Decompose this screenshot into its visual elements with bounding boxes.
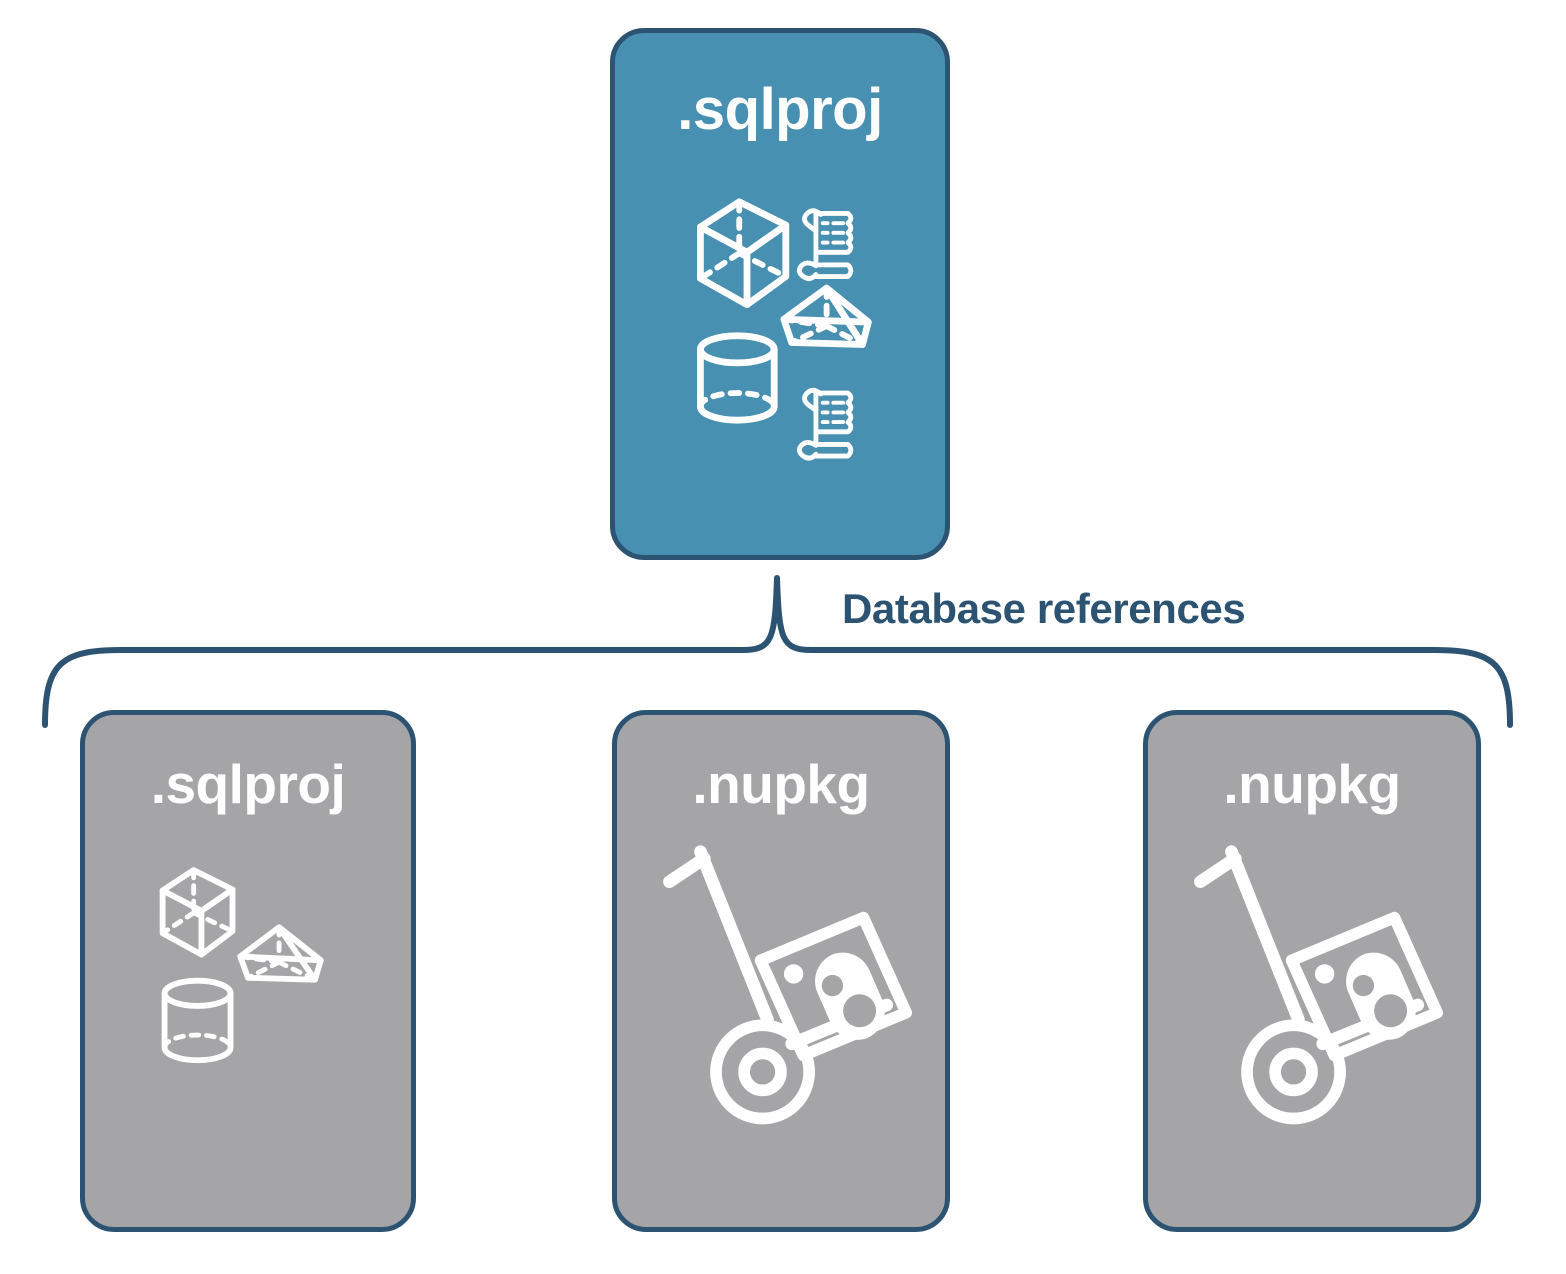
nuget-glyph-icon bbox=[1346, 953, 1416, 1040]
connector-label: Database references bbox=[842, 588, 1245, 630]
cylinder-icon bbox=[165, 981, 231, 1061]
hand-truck-package-icon bbox=[1200, 852, 1437, 1119]
card-title: .nupkg bbox=[1148, 757, 1476, 812]
pyramid-icon bbox=[240, 927, 321, 979]
cube-icon bbox=[163, 870, 233, 954]
wheel-icon bbox=[716, 1025, 809, 1118]
card-nupkg-reference-1[interactable]: .nupkg bbox=[612, 710, 950, 1232]
card-title: .nupkg bbox=[617, 757, 945, 812]
wheel-icon bbox=[1247, 1025, 1340, 1118]
card-title: .sqlproj bbox=[85, 757, 411, 812]
hand-truck-package-icon bbox=[669, 852, 906, 1119]
card-sqlproj-reference[interactable]: .sqlproj bbox=[80, 710, 416, 1232]
database-references-diagram: .sqlproj bbox=[0, 0, 1566, 1274]
card-nupkg-reference-2[interactable]: .nupkg bbox=[1143, 710, 1481, 1232]
nuget-glyph-icon bbox=[815, 953, 885, 1040]
nuget-dot-icon bbox=[1315, 964, 1334, 983]
nuget-dot-icon bbox=[784, 964, 803, 983]
